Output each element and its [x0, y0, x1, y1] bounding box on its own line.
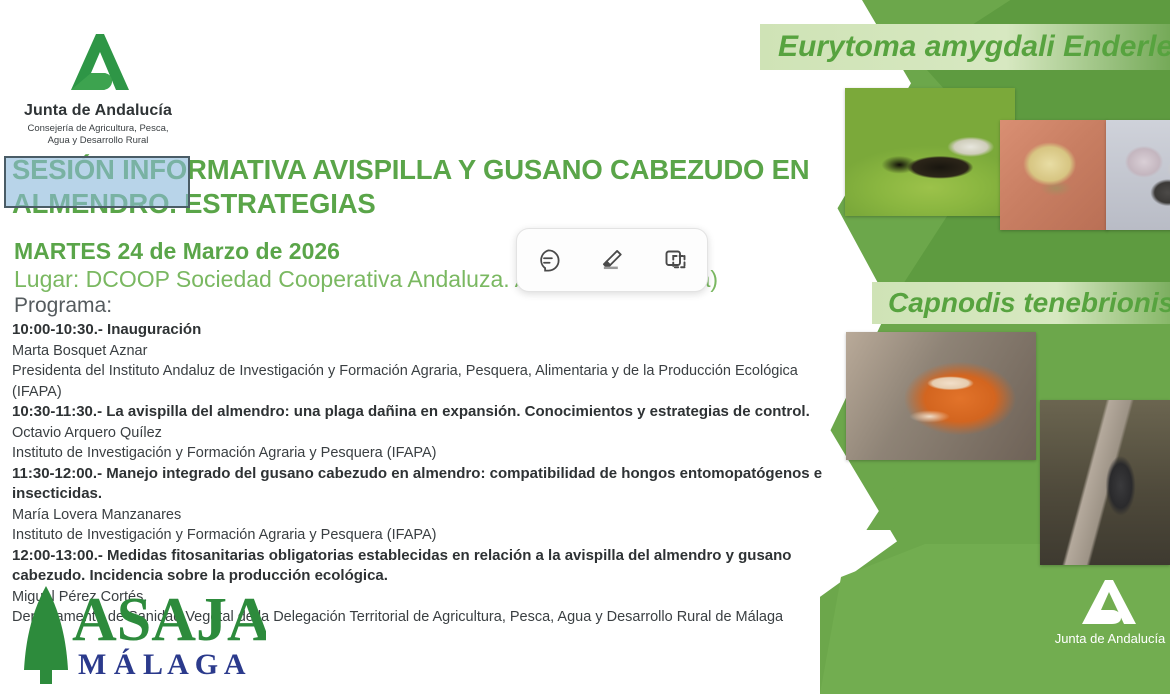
highlight-button[interactable] — [589, 237, 635, 283]
programme-item: Presidenta del Instituto Andaluz de Inve… — [12, 361, 832, 402]
junta-andalucia-logo-footer: Junta de Andalucía — [1050, 576, 1170, 646]
pest-label-capnodis-text: Capnodis tenebrionis — [888, 287, 1170, 319]
photo-wasp-adult — [845, 88, 1015, 216]
highlighter-icon — [598, 247, 625, 274]
programme-item: Marta Bosquet Aznar — [12, 341, 832, 362]
programme-item: Octavio Arquero Quílez — [12, 423, 832, 444]
junta-logo-name: Junta de Andalucía — [8, 102, 188, 120]
programme-item: Departamento de Sanidad Vegetal de la De… — [12, 607, 832, 628]
snip-select-icon — [662, 247, 689, 274]
programme-item: María Lovera Manzanares — [12, 505, 832, 526]
asaja-region-wordmark: M Á L A G A — [78, 648, 246, 681]
photo-almond-kernels — [1106, 120, 1170, 230]
event-date: MARTES 24 de Marzo de 2026 — [14, 238, 340, 265]
programme-label: Programa: — [14, 294, 112, 318]
andalucia-a-mark-white-icon — [1074, 576, 1146, 628]
junta-footer-name: Junta de Andalucía — [1050, 631, 1170, 646]
programme-list: 10:00-10:30.- Inauguración Marta Bosquet… — [12, 320, 832, 628]
pest-label-eurytoma-text: Eurytoma amygdali Enderlein — [778, 30, 1170, 64]
photo-beetle-branch — [1040, 400, 1170, 565]
photo-damaged-almond — [1000, 120, 1108, 230]
junta-andalucia-logo: Junta de Andalucía Consejería de Agricul… — [8, 28, 188, 147]
programme-item: 12:00-13:00.- Medidas fitosanitarias obl… — [12, 546, 832, 587]
document-canvas: Eurytoma amygdali Enderlein Capnodis ten… — [0, 0, 1170, 694]
annotation-toolbar[interactable] — [516, 228, 708, 292]
junta-logo-dept-line1: Consejería de Agricultura, Pesca, — [8, 123, 188, 135]
programme-item: Instituto de Investigación y Formación A… — [12, 443, 832, 464]
photo-larva-bark — [846, 332, 1036, 460]
junta-logo-dept-line2: Agua y Desarrollo Rural — [8, 135, 188, 147]
programme-item: 11:30-12:00.- Manejo integrado del gusan… — [12, 464, 832, 505]
programme-item: 10:30-11:30.- La avispilla del almendro:… — [12, 402, 832, 423]
programme-item: Miguel Pérez Cortés. — [12, 587, 832, 608]
pest-label-capnodis: Capnodis tenebrionis — [872, 282, 1170, 324]
programme-item: Instituto de Investigación y Formación A… — [12, 525, 832, 546]
comment-button[interactable] — [526, 237, 572, 283]
andalucia-a-mark-icon — [8, 28, 188, 100]
text-selection-highlight[interactable] — [4, 156, 190, 208]
programme-item: 10:00-10:30.- Inauguración — [12, 320, 832, 341]
snip-select-button[interactable] — [652, 237, 698, 283]
comment-icon — [535, 247, 562, 274]
pest-label-eurytoma: Eurytoma amygdali Enderlein — [760, 24, 1170, 70]
